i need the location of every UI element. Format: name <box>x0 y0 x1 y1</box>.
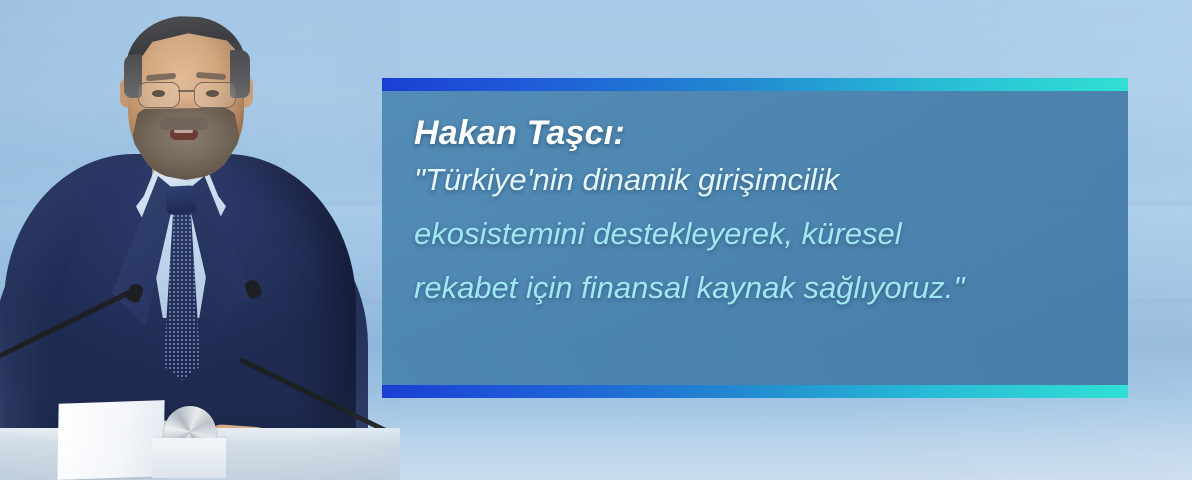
eyeglass-bridge <box>178 90 194 92</box>
quote-line-3: rekabet için finansal kaynak sağlıyoruz.… <box>414 268 1110 308</box>
speaker-name: Hakan Taşcı: <box>414 112 1110 156</box>
necktie-knot <box>165 185 196 215</box>
disc-stand-base <box>152 438 226 478</box>
quote-line-2: ekosistemini destekleyerek, küresel <box>414 214 1110 254</box>
eyeglass-lens-left <box>138 82 180 108</box>
eyeglass-lens-right <box>194 82 236 108</box>
accent-bar-top <box>382 78 1128 91</box>
quote-card-image: Hakan Taşcı: "Türkiye'nin dinamik girişi… <box>0 0 1192 480</box>
accent-bar-bottom <box>382 385 1128 398</box>
quote-text-block: Hakan Taşcı: "Türkiye'nin dinamik girişi… <box>414 112 1110 308</box>
mustache <box>160 117 208 130</box>
speaker-photo <box>0 0 400 480</box>
quote-line-1: "Türkiye'nin dinamik girişimcilik <box>414 160 1110 200</box>
quote-panel: Hakan Taşcı: "Türkiye'nin dinamik girişi… <box>382 78 1128 398</box>
paper-documents <box>57 400 164 480</box>
